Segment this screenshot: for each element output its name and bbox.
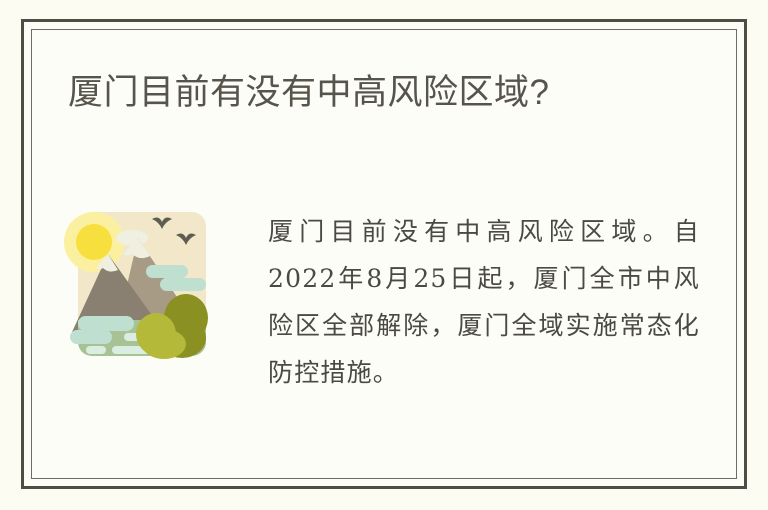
answer-body-text: 厦门目前没有中高风险区域。自2022年8月25日起，厦门全市中风险区全部解除，厦…	[268, 208, 700, 396]
article-card-outer-frame: 厦门目前有没有中高风险区域?	[21, 19, 747, 489]
page-title: 厦门目前有没有中高风险区域?	[68, 72, 549, 114]
landscape-illustration-icon	[60, 202, 212, 366]
article-card-inner-frame: 厦门目前有没有中高风险区域?	[31, 29, 737, 479]
